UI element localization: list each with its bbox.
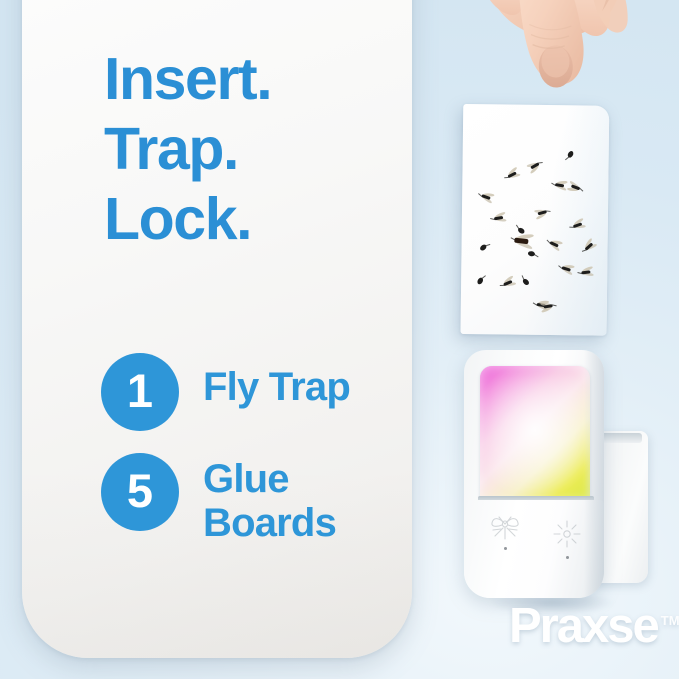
feature-label-2-line-2: Boards bbox=[203, 501, 336, 545]
headline-line-1: Insert. bbox=[104, 44, 404, 114]
feature-list: 1 Fly Trap 5 Glue Boards bbox=[101, 353, 401, 567]
panel-gloss-overlay bbox=[480, 366, 590, 500]
product-marketing-image: Insert. Trap. Lock. 1 Fly Trap 5 Glue Bo… bbox=[0, 0, 679, 679]
glue-board-card bbox=[460, 104, 609, 336]
trademark-symbol: TM bbox=[661, 613, 679, 628]
count-badge-2: 5 bbox=[101, 453, 179, 531]
feature-label-2: Glue Boards bbox=[203, 453, 336, 545]
feature-label-1: Fly Trap bbox=[203, 353, 350, 409]
headline-line-3: Lock. bbox=[104, 184, 404, 254]
trapped-insects bbox=[460, 104, 609, 336]
brand-logo: PraxseTM bbox=[509, 602, 679, 651]
device-body bbox=[464, 350, 604, 598]
fly-trap-device bbox=[458, 350, 658, 612]
device-front-face bbox=[464, 500, 604, 598]
list-item: 5 Glue Boards bbox=[101, 453, 401, 545]
mosquito-mode-led bbox=[504, 547, 507, 550]
mosquito-icon bbox=[488, 514, 522, 544]
hand-holding-glue-board bbox=[444, 0, 679, 379]
feature-label-1-line-1: Fly Trap bbox=[203, 365, 350, 409]
light-mode-led bbox=[566, 556, 569, 559]
light-icon bbox=[553, 520, 581, 548]
feature-label-2-line-1: Glue bbox=[203, 457, 336, 501]
list-item: 1 Fly Trap bbox=[101, 353, 401, 431]
count-badge-1: 1 bbox=[101, 353, 179, 431]
brand-name: Praxse bbox=[509, 599, 658, 653]
headline-line-2: Trap. bbox=[104, 114, 404, 184]
headline: Insert. Trap. Lock. bbox=[104, 44, 404, 254]
